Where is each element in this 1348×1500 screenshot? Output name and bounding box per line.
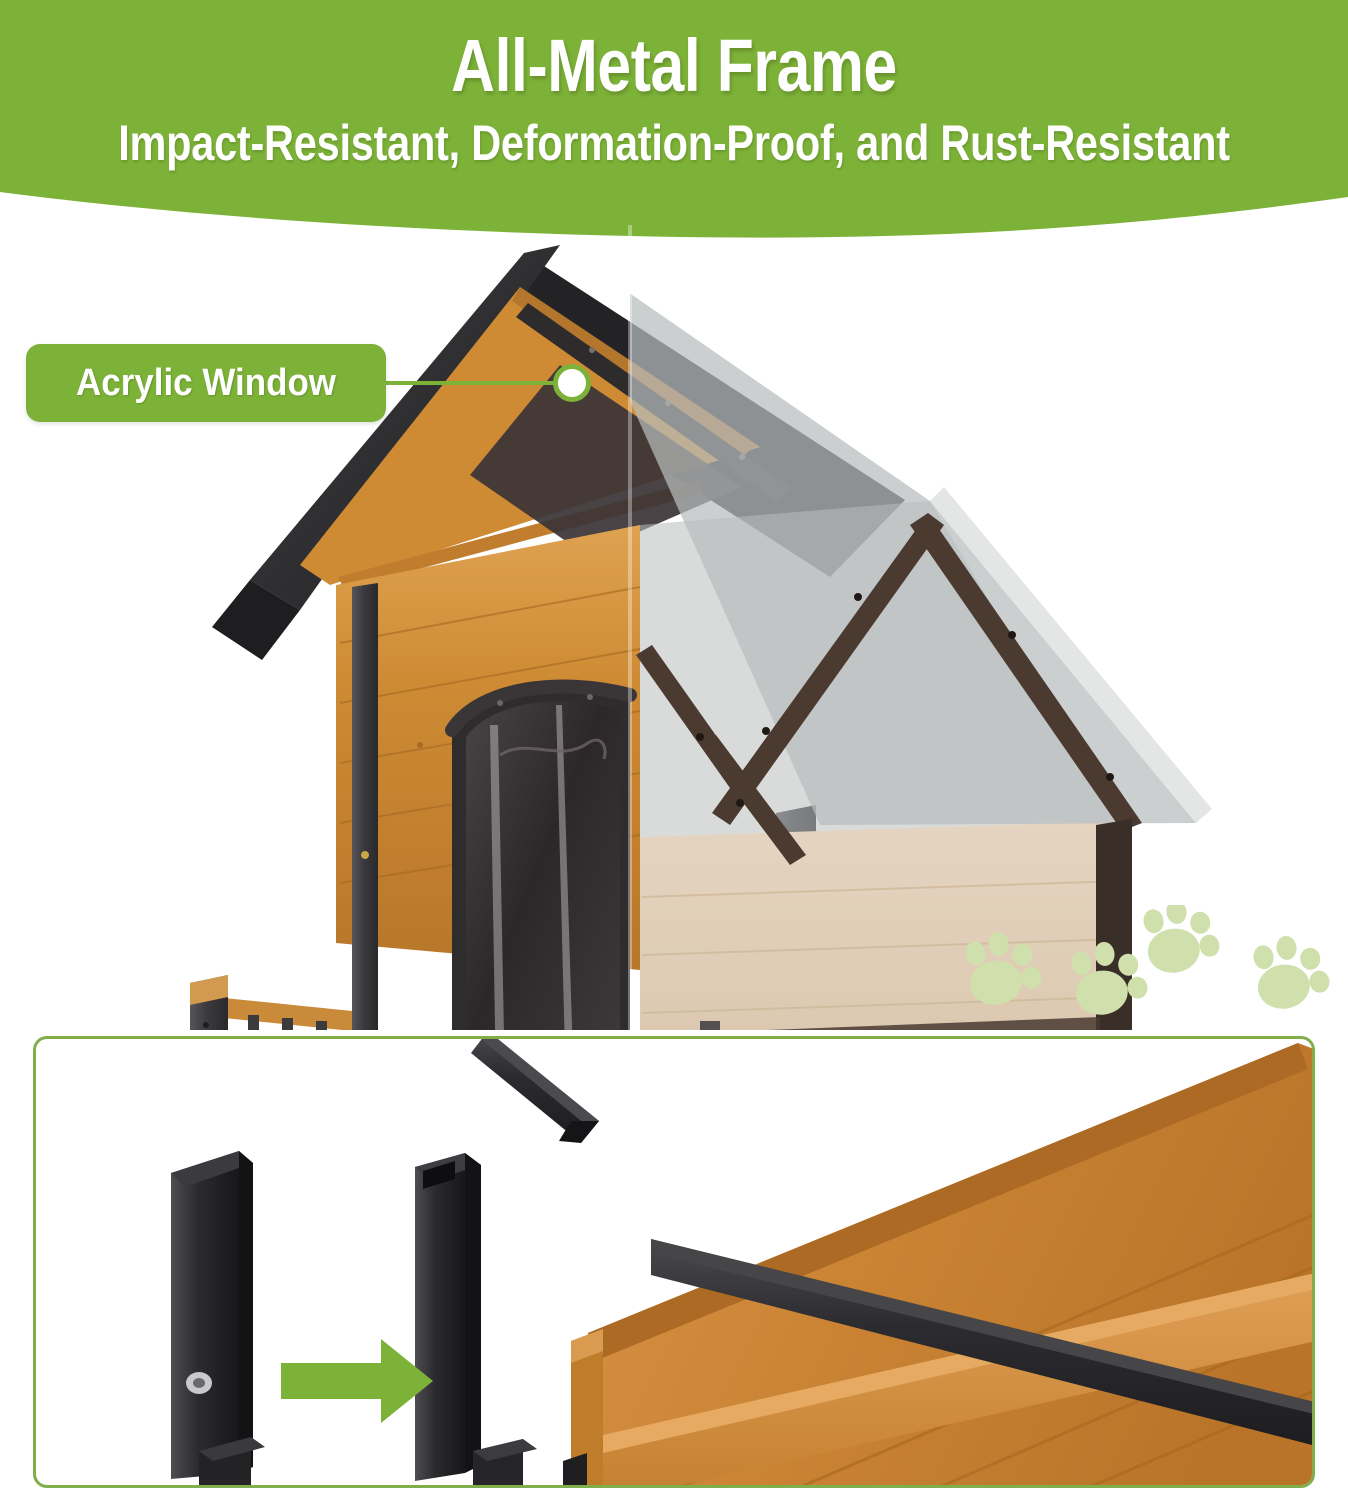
detail-panel [33,1036,1315,1488]
paw-print-decoration [940,905,1340,1030]
callout-marker-dot [553,364,591,402]
callout-acrylic-window: Acrylic Window [26,344,386,422]
callout-label: Acrylic Window [40,344,371,422]
page-subtitle: Impact-Resistant, Deformation-Proof, and… [115,114,1234,172]
paw-prints-icon [940,905,1340,1030]
callout-leader-line [386,381,566,385]
metal-post-closeup-illustration [33,1036,1315,1488]
header-banner: All-Metal Frame Impact-Resistant, Deform… [0,0,1348,240]
green-arrow-icon [281,1339,433,1423]
page-title: All-Metal Frame [121,26,1226,106]
